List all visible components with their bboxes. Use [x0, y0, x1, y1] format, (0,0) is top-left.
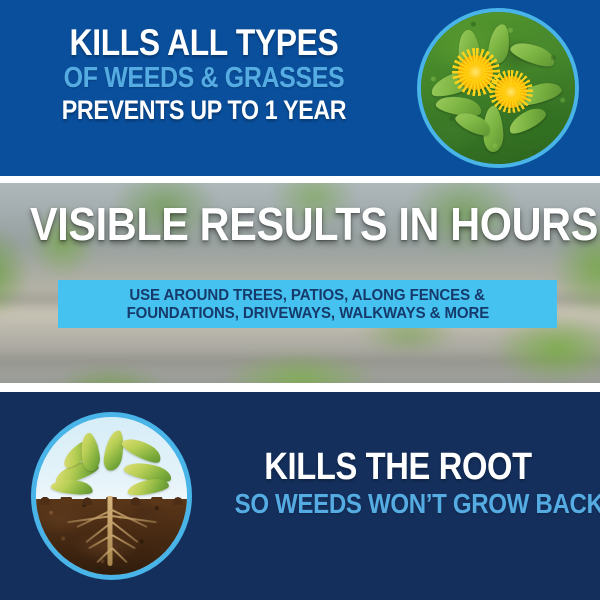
dandelion-flower-left — [458, 55, 493, 90]
panel-kills-the-root: KILLS THE ROOT SO WEEDS WON’T GROW BACK — [0, 392, 600, 600]
bottom-headline-primary: KILLS THE ROOT — [235, 448, 562, 486]
bottom-headline-secondary: SO WEEDS WON’T GROW BACK — [235, 490, 562, 518]
dandelion-photo-badge — [417, 8, 579, 168]
middle-headline: VISIBLE RESULTS IN HOURS — [30, 201, 570, 247]
panel-kills-all-types: KILLS ALL TYPES OF WEEDS & GRASSES PREVE… — [0, 0, 600, 176]
top-headline-primary: KILLS ALL TYPES — [29, 24, 380, 61]
dandelion-flower-right — [495, 76, 527, 108]
divider-top — [0, 176, 600, 183]
top-panel-copy-block: KILLS ALL TYPES OF WEEDS & GRASSES PREVE… — [0, 24, 408, 124]
root-illustration-badge — [31, 412, 192, 580]
top-headline-tertiary: PREVENTS UP TO 1 YEAR — [29, 97, 380, 124]
weed-killer-feature-infographic: KILLS ALL TYPES OF WEEDS & GRASSES PREVE… — [0, 0, 600, 600]
usage-line-1: USE AROUND TREES, PATIOS, ALONG FENCES & — [130, 287, 486, 305]
divider-bottom — [0, 383, 600, 392]
usage-instructions-box: USE AROUND TREES, PATIOS, ALONG FENCES &… — [58, 280, 557, 328]
dandelion-grass-photo — [421, 12, 575, 164]
usage-line-2: FOUNDATIONS, DRIVEWAYS, WALKWAYS & MORE — [126, 305, 489, 323]
panel-visible-results: VISIBLE RESULTS IN HOURS USE AROUND TREE… — [0, 183, 600, 383]
bottom-panel-copy-block: KILLS THE ROOT SO WEEDS WON’T GROW BACK — [208, 448, 588, 518]
taproot — [107, 496, 112, 566]
top-headline-secondary: OF WEEDS & GRASSES — [29, 64, 380, 93]
